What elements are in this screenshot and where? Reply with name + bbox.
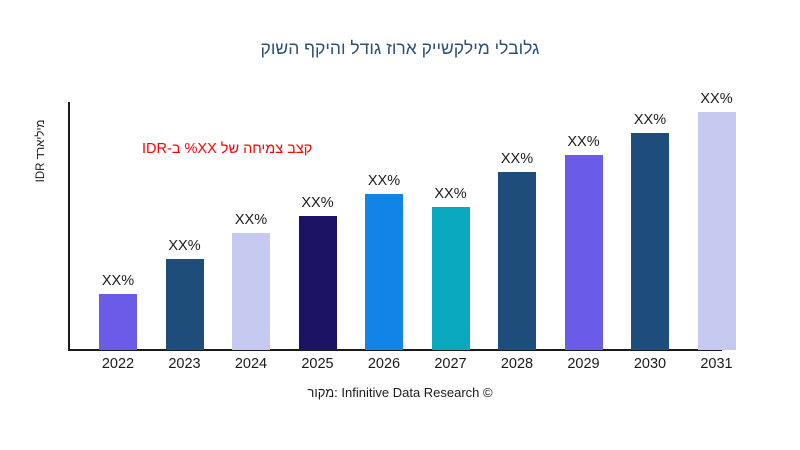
plot-area: XX%XX%XX%XX%XX%XX%XX%XX%XX%XX% [70, 90, 792, 350]
bar[interactable] [166, 259, 204, 350]
x-axis-tick-2030: 2030 [616, 356, 684, 372]
source-note: © Infinitive Data Research :מקור [0, 385, 800, 400]
x-axis-tick-2028: 2028 [483, 356, 551, 372]
bar-group: XX% [84, 90, 152, 350]
bar[interactable] [565, 155, 603, 350]
bar[interactable] [698, 112, 736, 350]
bar-value-label: XX% [700, 92, 732, 107]
chart-title: גלובלי מילקשייק ארוז גודל והיקף השוק [0, 38, 800, 59]
bar-group: XX% [550, 90, 618, 350]
bar-group: XX% [683, 90, 751, 350]
x-axis-tick-2022: 2022 [84, 356, 152, 372]
x-axis-tick-2024: 2024 [217, 356, 285, 372]
bar[interactable] [498, 172, 536, 350]
bar[interactable] [99, 294, 137, 350]
bar[interactable] [299, 216, 337, 350]
bar-group: XX% [417, 90, 485, 350]
x-axis-tick-2025: 2025 [284, 356, 352, 372]
bar-group: XX% [217, 90, 285, 350]
bar-group: XX% [616, 90, 684, 350]
bar-value-label: XX% [368, 174, 400, 189]
bar-value-label: XX% [235, 213, 267, 228]
bar-value-label: XX% [168, 239, 200, 254]
x-axis-tick-2031: 2031 [683, 356, 751, 372]
chart-container: גלובלי מילקשייק ארוז גודל והיקף השוק מיל… [0, 0, 800, 450]
x-axis-tick-2026: 2026 [350, 356, 418, 372]
bar-group: XX% [483, 90, 551, 350]
bar-value-label: XX% [634, 113, 666, 128]
bar[interactable] [631, 133, 669, 350]
bar[interactable] [432, 207, 470, 350]
x-axis-tick-2027: 2027 [417, 356, 485, 372]
bar-group: XX% [350, 90, 418, 350]
y-axis-label: מיליארד IDR [35, 96, 47, 206]
bar-group: XX% [151, 90, 219, 350]
x-axis-tick-2023: 2023 [151, 356, 219, 372]
bar[interactable] [365, 194, 403, 350]
bar-value-label: XX% [301, 196, 333, 211]
x-axis-tick-2029: 2029 [550, 356, 618, 372]
bar-value-label: XX% [434, 187, 466, 202]
bar-value-label: XX% [102, 274, 134, 289]
bar-value-label: XX% [567, 135, 599, 150]
bar-value-label: XX% [501, 152, 533, 167]
bar[interactable] [232, 233, 270, 350]
bar-group: XX% [284, 90, 352, 350]
